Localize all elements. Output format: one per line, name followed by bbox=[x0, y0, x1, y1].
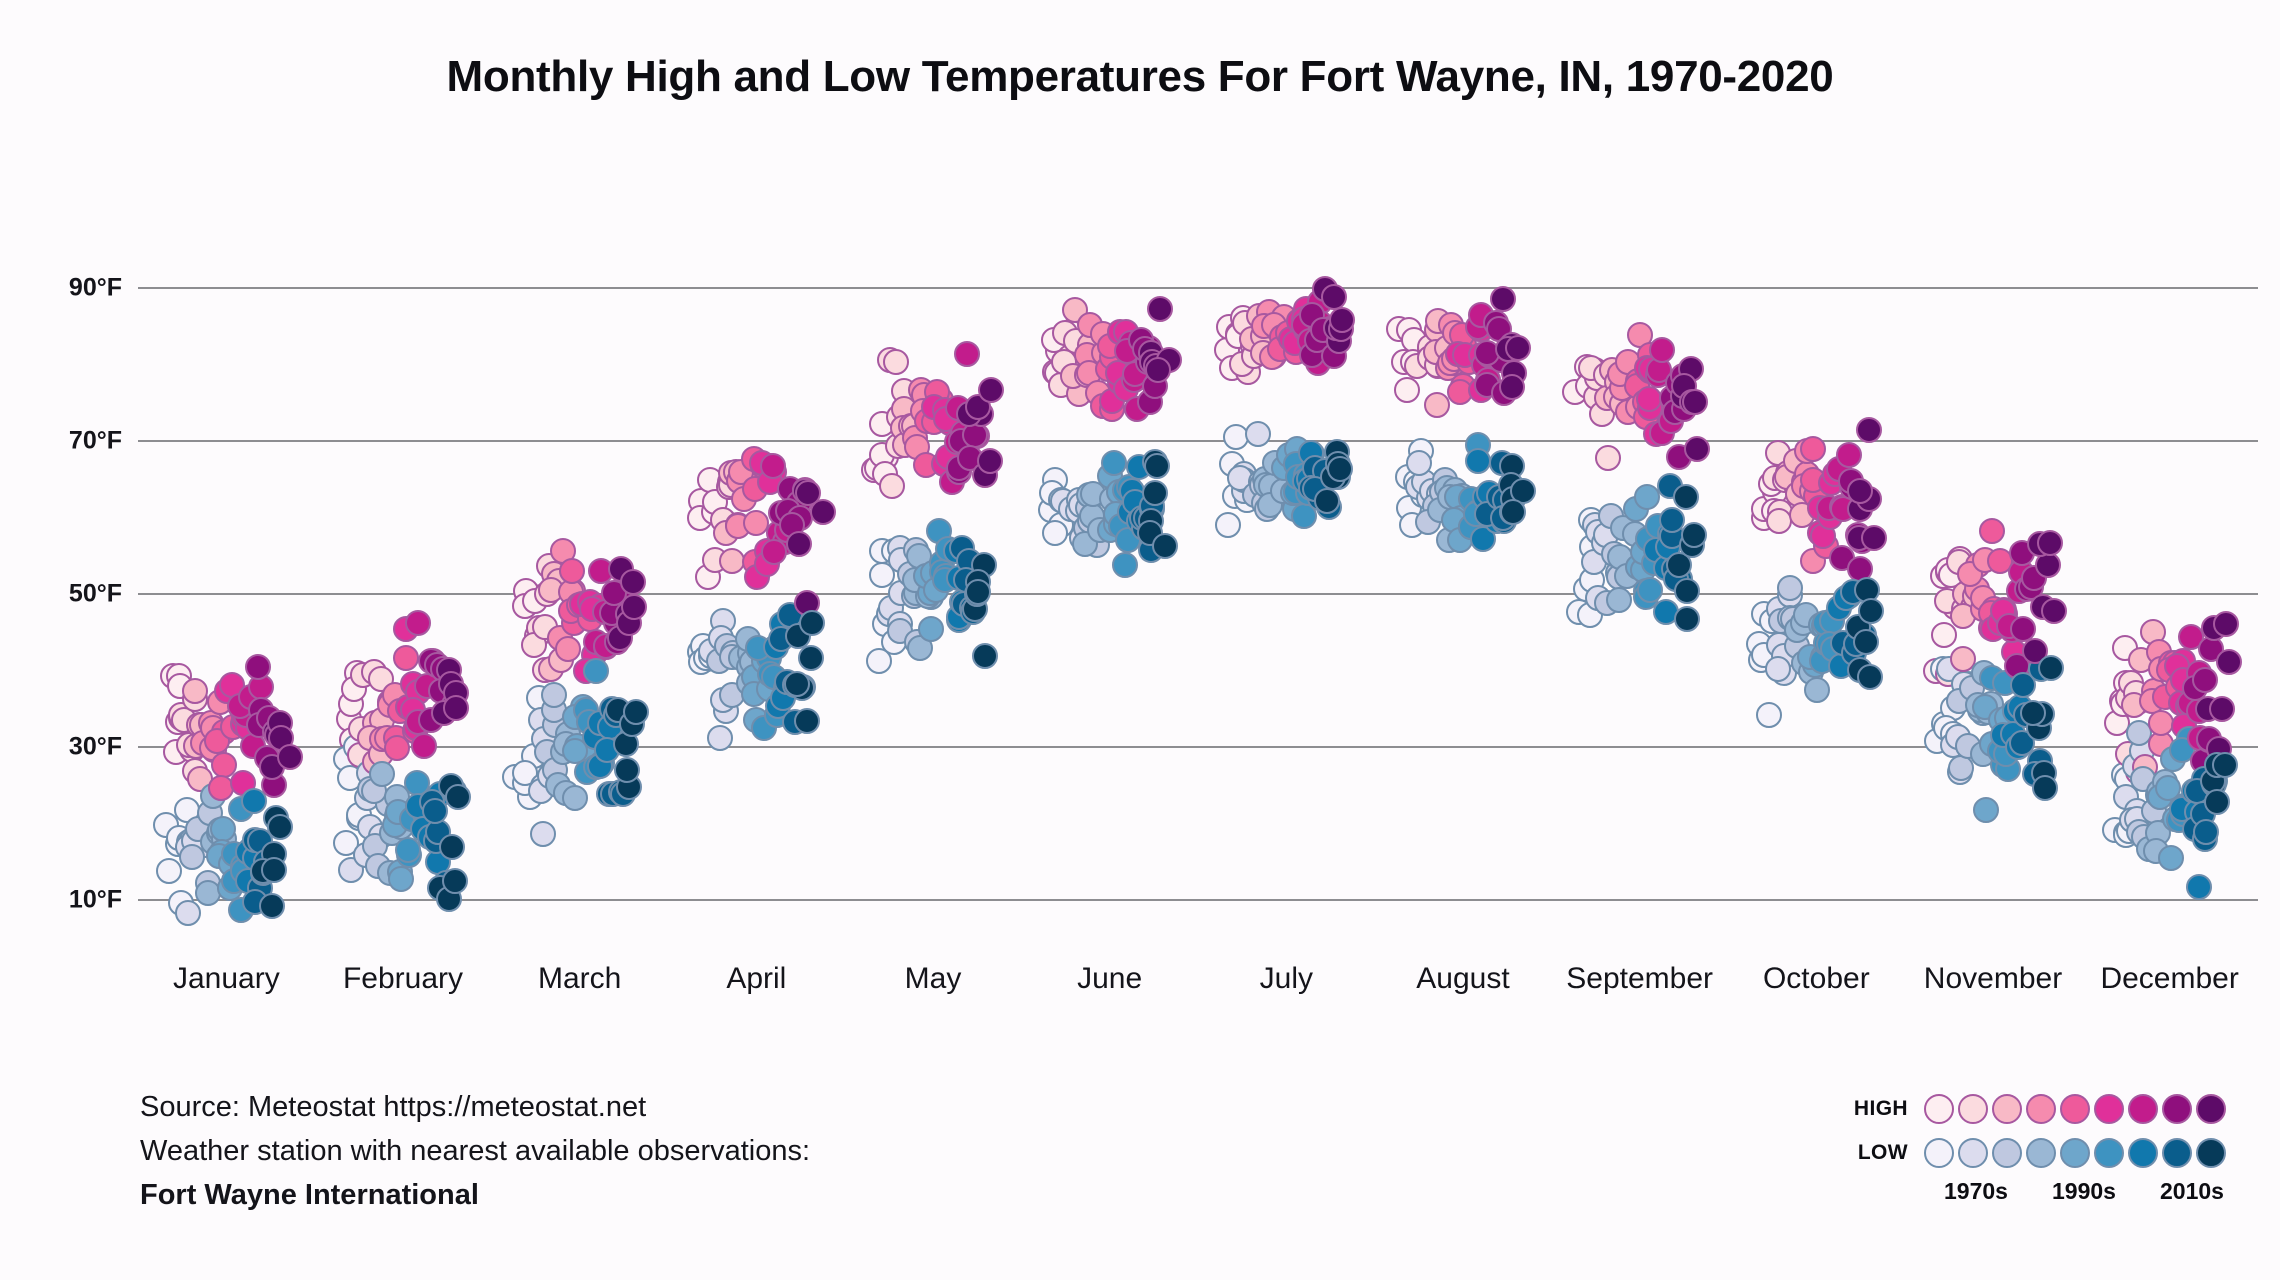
scatter-point bbox=[1156, 347, 1182, 373]
legend-swatch bbox=[2060, 1138, 2090, 1168]
scatter-point bbox=[1951, 671, 1977, 697]
scatter-point bbox=[1594, 385, 1620, 411]
scatter-point bbox=[512, 770, 538, 796]
scatter-point bbox=[187, 766, 213, 792]
scatter-point bbox=[1072, 531, 1098, 557]
scatter-point bbox=[782, 672, 808, 698]
scatter-point bbox=[1637, 342, 1663, 368]
scatter-point bbox=[751, 715, 777, 741]
scatter-point bbox=[688, 649, 714, 675]
scatter-point bbox=[445, 784, 471, 810]
scatter-point bbox=[928, 387, 954, 413]
scatter-point bbox=[1298, 475, 1324, 501]
scatter-point bbox=[1593, 522, 1619, 548]
scatter-point bbox=[2145, 782, 2171, 808]
scatter-point bbox=[1142, 449, 1168, 475]
scatter-point bbox=[1299, 302, 1325, 328]
scatter-point bbox=[436, 657, 462, 683]
scatter-point bbox=[706, 648, 732, 674]
scatter-point bbox=[2148, 656, 2174, 682]
scatter-point bbox=[1075, 495, 1101, 521]
scatter-point bbox=[1241, 343, 1267, 369]
scatter-point bbox=[594, 737, 620, 763]
scatter-point bbox=[2004, 653, 2030, 679]
scatter-point bbox=[1231, 467, 1257, 493]
scatter-point bbox=[1992, 601, 2018, 627]
scatter-point bbox=[1582, 512, 1608, 538]
scatter-point bbox=[1138, 508, 1164, 534]
scatter-point bbox=[913, 563, 939, 589]
scatter-point bbox=[441, 692, 467, 718]
scatter-point bbox=[583, 754, 609, 780]
scatter-point bbox=[1103, 501, 1129, 527]
scatter-point bbox=[1804, 677, 1830, 703]
scatter-point bbox=[1981, 596, 2007, 622]
scatter-point bbox=[577, 744, 603, 770]
scatter-point bbox=[238, 684, 264, 710]
scatter-point bbox=[1784, 633, 1810, 659]
scatter-point bbox=[1062, 297, 1088, 323]
scatter-point bbox=[1950, 603, 1976, 629]
scatter-point bbox=[971, 552, 997, 578]
scatter-point bbox=[1659, 507, 1685, 533]
scatter-point bbox=[1665, 370, 1691, 396]
scatter-point bbox=[1856, 417, 1882, 443]
scatter-point bbox=[419, 789, 445, 815]
scatter-point bbox=[583, 658, 609, 684]
scatter-point bbox=[2128, 647, 2154, 673]
scatter-point bbox=[1847, 556, 1873, 582]
scatter-point bbox=[1826, 456, 1852, 482]
scatter-point bbox=[2165, 674, 2191, 700]
scatter-point bbox=[1080, 481, 1106, 507]
scatter-point bbox=[902, 567, 928, 593]
scatter-point bbox=[1607, 544, 1633, 570]
scatter-point bbox=[405, 709, 431, 735]
scatter-point bbox=[787, 505, 813, 531]
scatter-point bbox=[931, 451, 957, 477]
x-tick-label: August bbox=[1416, 962, 1509, 996]
scatter-point bbox=[1762, 465, 1788, 491]
scatter-point bbox=[521, 632, 547, 658]
scatter-point bbox=[918, 584, 944, 610]
scatter-point bbox=[1491, 380, 1517, 406]
scatter-point bbox=[1305, 350, 1331, 376]
scatter-point bbox=[1762, 468, 1788, 494]
scatter-point bbox=[946, 607, 972, 633]
scatter-point bbox=[718, 460, 744, 486]
scatter-point bbox=[616, 774, 642, 800]
scatter-point bbox=[1069, 525, 1095, 551]
scatter-point bbox=[2198, 636, 2224, 662]
scatter-point bbox=[1630, 539, 1656, 565]
scatter-point bbox=[610, 583, 636, 609]
scatter-point bbox=[1283, 451, 1309, 477]
scatter-point bbox=[891, 378, 917, 404]
scatter-point bbox=[532, 614, 558, 640]
scatter-point bbox=[972, 643, 998, 669]
scatter-point bbox=[739, 649, 765, 675]
scatter-point bbox=[1126, 508, 1152, 534]
scatter-point bbox=[227, 693, 253, 719]
scatter-point bbox=[1501, 360, 1527, 386]
scatter-point bbox=[1468, 302, 1494, 328]
x-tick-label: February bbox=[343, 962, 463, 996]
scatter-point bbox=[198, 710, 224, 736]
scatter-point bbox=[1794, 461, 1820, 487]
scatter-point bbox=[368, 823, 394, 849]
scatter-point bbox=[1499, 453, 1525, 479]
scatter-point bbox=[1946, 549, 1972, 575]
scatter-point bbox=[733, 459, 759, 485]
scatter-point bbox=[387, 698, 413, 724]
scatter-point bbox=[195, 880, 221, 906]
scatter-point bbox=[1249, 472, 1275, 498]
scatter-point bbox=[1980, 616, 2006, 642]
scatter-point bbox=[794, 708, 820, 734]
scatter-point bbox=[186, 712, 212, 738]
scatter-point bbox=[1633, 584, 1659, 610]
scatter-point bbox=[512, 593, 538, 619]
scatter-point bbox=[1077, 508, 1103, 534]
scatter-point bbox=[1965, 692, 1991, 718]
scatter-point bbox=[965, 394, 991, 420]
scatter-point bbox=[1411, 469, 1437, 495]
scatter-point bbox=[363, 719, 389, 745]
scatter-point bbox=[697, 467, 723, 493]
scatter-point bbox=[1857, 664, 1883, 690]
scatter-point bbox=[398, 800, 424, 826]
scatter-point bbox=[1425, 353, 1451, 379]
scatter-point bbox=[1777, 582, 1803, 608]
scatter-point bbox=[1829, 545, 1855, 571]
scatter-point bbox=[756, 676, 782, 702]
scatter-point bbox=[1623, 496, 1649, 522]
scatter-point bbox=[1270, 478, 1296, 504]
scatter-point bbox=[1295, 480, 1321, 506]
scatter-point bbox=[608, 779, 634, 805]
legend-high-label: HIGH bbox=[1832, 1097, 1924, 1121]
scatter-point bbox=[1923, 658, 1949, 684]
scatter-point bbox=[526, 685, 552, 711]
scatter-point bbox=[1434, 335, 1460, 361]
scatter-point bbox=[2032, 775, 2058, 801]
scatter-point bbox=[553, 731, 579, 757]
scatter-point bbox=[605, 697, 631, 723]
scatter-point bbox=[521, 584, 547, 610]
scatter-point bbox=[1121, 367, 1147, 393]
legend-swatch bbox=[1924, 1138, 1954, 1168]
legend-swatch bbox=[2128, 1094, 2158, 1124]
scatter-point bbox=[253, 849, 279, 875]
scatter-point bbox=[1252, 466, 1278, 492]
scatter-point bbox=[1813, 630, 1839, 656]
scatter-point bbox=[913, 382, 939, 408]
scatter-point bbox=[1625, 554, 1651, 580]
scatter-point bbox=[235, 839, 261, 865]
scatter-point bbox=[1996, 613, 2022, 639]
scatter-point bbox=[153, 812, 179, 838]
scatter-point bbox=[761, 664, 787, 690]
scatter-point bbox=[1474, 340, 1500, 366]
scatter-point bbox=[1955, 671, 1981, 697]
scatter-point bbox=[562, 785, 588, 811]
scatter-point bbox=[1610, 515, 1636, 541]
scatter-point bbox=[1942, 594, 1968, 620]
scatter-point bbox=[1490, 286, 1516, 312]
scatter-point bbox=[1261, 312, 1287, 338]
scatter-point bbox=[954, 341, 980, 367]
scatter-point bbox=[1435, 355, 1461, 381]
scatter-point bbox=[1441, 507, 1467, 533]
chart-legend: HIGH LOW 1970s1990s2010s bbox=[1832, 1092, 2252, 1232]
footer-station-name: Fort Wayne International bbox=[140, 1173, 810, 1217]
scatter-point bbox=[182, 678, 208, 704]
scatter-point bbox=[2148, 731, 2174, 757]
scatter-point bbox=[1566, 599, 1592, 625]
y-tick-label: 90°F bbox=[69, 274, 122, 303]
scatter-point bbox=[1593, 362, 1619, 388]
scatter-point bbox=[1756, 702, 1782, 728]
scatter-point bbox=[1987, 548, 2013, 574]
scatter-point bbox=[596, 781, 622, 807]
scatter-point bbox=[230, 858, 256, 884]
scatter-point bbox=[861, 457, 887, 483]
scatter-point bbox=[1847, 496, 1873, 522]
scatter-point bbox=[1450, 513, 1476, 539]
scatter-point bbox=[1851, 622, 1877, 648]
scatter-point bbox=[1060, 363, 1086, 389]
footer-note: Source: Meteostat https://meteostat.net … bbox=[140, 1085, 810, 1217]
scatter-point bbox=[968, 401, 994, 427]
scatter-point bbox=[1079, 503, 1105, 529]
scatter-point bbox=[769, 611, 795, 637]
scatter-point bbox=[2132, 754, 2158, 780]
scatter-point bbox=[758, 453, 784, 479]
scatter-point bbox=[1800, 467, 1826, 493]
scatter-point bbox=[1674, 606, 1700, 632]
scatter-point bbox=[207, 689, 233, 715]
scatter-point bbox=[1105, 360, 1131, 386]
scatter-point bbox=[702, 489, 728, 515]
scatter-point bbox=[1766, 596, 1792, 622]
scatter-point bbox=[1135, 349, 1161, 375]
scatter-point bbox=[1809, 648, 1835, 674]
scatter-point bbox=[200, 715, 226, 741]
scatter-point bbox=[2026, 715, 2052, 741]
scatter-point bbox=[1458, 514, 1484, 540]
scatter-point bbox=[1603, 384, 1629, 410]
scatter-point bbox=[405, 793, 431, 819]
scatter-point bbox=[774, 517, 800, 543]
scatter-point bbox=[904, 434, 930, 460]
scatter-point bbox=[1256, 299, 1282, 325]
scatter-point bbox=[1302, 455, 1328, 481]
scatter-point bbox=[2118, 670, 2144, 696]
scatter-point bbox=[614, 757, 640, 783]
scatter-point bbox=[1783, 448, 1809, 474]
scatter-point bbox=[918, 616, 944, 642]
scatter-point bbox=[1625, 394, 1651, 420]
scatter-point bbox=[1119, 478, 1145, 504]
scatter-point bbox=[1323, 315, 1349, 341]
scatter-point bbox=[267, 710, 293, 736]
scatter-point bbox=[1992, 670, 2018, 696]
scatter-point bbox=[1437, 484, 1463, 510]
scatter-point bbox=[1622, 521, 1648, 547]
scatter-point bbox=[761, 459, 787, 485]
scatter-point bbox=[1286, 308, 1312, 334]
scatter-point bbox=[1317, 316, 1343, 342]
scatter-point bbox=[1858, 598, 1884, 624]
scatter-point bbox=[1971, 660, 1997, 686]
scatter-point bbox=[1614, 563, 1640, 589]
scatter-point bbox=[2000, 721, 2026, 747]
scatter-point bbox=[901, 413, 927, 439]
scatter-point bbox=[248, 674, 274, 700]
scatter-point bbox=[399, 806, 425, 832]
scatter-point bbox=[1225, 321, 1251, 347]
scatter-point bbox=[241, 788, 267, 814]
scatter-point bbox=[428, 678, 454, 704]
scatter-point bbox=[1970, 700, 1996, 726]
scatter-point bbox=[1573, 576, 1599, 602]
scatter-point bbox=[2195, 696, 2221, 722]
scatter-point bbox=[1810, 644, 1836, 670]
scatter-point bbox=[2009, 540, 2035, 566]
scatter-point bbox=[425, 849, 451, 875]
scatter-point bbox=[550, 538, 576, 564]
scatter-point bbox=[569, 591, 595, 617]
scatter-point bbox=[1836, 632, 1862, 658]
scatter-point bbox=[2152, 684, 2178, 710]
scatter-point bbox=[757, 469, 783, 495]
x-tick-label: September bbox=[1566, 962, 1713, 996]
scatter-point bbox=[200, 783, 226, 809]
scatter-point bbox=[1076, 360, 1102, 386]
scatter-point bbox=[230, 711, 256, 737]
scatter-point bbox=[1681, 522, 1707, 548]
scatter-point bbox=[1819, 608, 1845, 634]
scatter-point bbox=[210, 816, 236, 842]
scatter-point bbox=[1861, 525, 1887, 551]
x-tick-label: June bbox=[1077, 962, 1142, 996]
scatter-point bbox=[1808, 612, 1834, 638]
scatter-point bbox=[1048, 372, 1074, 398]
scatter-point bbox=[1836, 583, 1862, 609]
scatter-point bbox=[1853, 629, 1879, 655]
scatter-point bbox=[1112, 477, 1138, 503]
scatter-point bbox=[377, 689, 403, 715]
scatter-point bbox=[555, 721, 581, 747]
scatter-point bbox=[160, 663, 186, 689]
scatter-point bbox=[1097, 517, 1123, 543]
scatter-point bbox=[1128, 327, 1154, 353]
scatter-point bbox=[1780, 606, 1806, 632]
scatter-point bbox=[597, 714, 623, 740]
scatter-point bbox=[1830, 630, 1856, 656]
scatter-points-layer bbox=[138, 0, 2258, 1100]
scatter-point bbox=[616, 610, 642, 636]
scatter-point bbox=[1133, 505, 1159, 531]
scatter-point bbox=[1606, 564, 1632, 590]
scatter-point bbox=[354, 785, 380, 811]
scatter-point bbox=[763, 634, 789, 660]
scatter-point bbox=[1607, 361, 1633, 387]
scatter-point bbox=[1775, 460, 1801, 486]
scatter-point bbox=[1257, 492, 1283, 518]
scatter-point bbox=[768, 500, 794, 526]
scatter-point bbox=[1465, 499, 1491, 525]
scatter-point bbox=[2146, 779, 2172, 805]
scatter-point bbox=[1280, 480, 1306, 506]
scatter-point bbox=[718, 472, 744, 498]
scatter-point bbox=[728, 459, 754, 485]
scatter-point bbox=[1812, 610, 1838, 636]
scatter-point bbox=[688, 488, 714, 514]
scatter-point bbox=[1259, 313, 1285, 339]
scatter-point bbox=[2168, 690, 2194, 716]
scatter-point bbox=[768, 626, 794, 652]
scatter-point bbox=[1653, 555, 1679, 581]
scatter-point bbox=[1499, 374, 1525, 400]
scatter-point bbox=[2196, 727, 2222, 753]
scatter-point bbox=[2116, 818, 2142, 844]
scatter-point bbox=[538, 577, 564, 603]
scatter-point bbox=[760, 453, 786, 479]
scatter-point bbox=[1246, 303, 1272, 329]
scatter-point bbox=[1783, 472, 1809, 498]
scatter-point bbox=[1269, 324, 1295, 350]
scatter-point bbox=[532, 657, 558, 683]
scatter-point bbox=[528, 778, 554, 804]
scatter-point bbox=[1627, 322, 1653, 348]
scatter-point bbox=[2136, 836, 2162, 862]
scatter-point bbox=[245, 654, 271, 680]
scatter-point bbox=[1058, 496, 1084, 522]
scatter-point bbox=[2201, 771, 2227, 797]
scatter-point bbox=[904, 629, 930, 655]
scatter-point bbox=[1972, 547, 1998, 573]
scatter-point bbox=[1978, 615, 2004, 641]
legend-decade-label: 2010s bbox=[2160, 1178, 2224, 1205]
scatter-point bbox=[946, 459, 972, 485]
scatter-point bbox=[1836, 442, 1862, 468]
scatter-point bbox=[1450, 373, 1476, 399]
scatter-point bbox=[1235, 359, 1261, 385]
scatter-point bbox=[2170, 667, 2196, 693]
scatter-point bbox=[1291, 312, 1317, 338]
scatter-point bbox=[1484, 508, 1510, 534]
scatter-point bbox=[1045, 338, 1071, 364]
scatter-point bbox=[2145, 820, 2171, 846]
scatter-point bbox=[2009, 730, 2035, 756]
scatter-point bbox=[1267, 336, 1293, 362]
scatter-point bbox=[1988, 707, 2014, 733]
scatter-point bbox=[368, 741, 394, 767]
scatter-point bbox=[2141, 798, 2167, 824]
scatter-point bbox=[1152, 533, 1178, 559]
scatter-point bbox=[1663, 566, 1689, 592]
scatter-point bbox=[1299, 441, 1325, 467]
scatter-point bbox=[914, 408, 940, 434]
scatter-point bbox=[1307, 310, 1333, 336]
scatter-point bbox=[879, 473, 905, 499]
scatter-point bbox=[881, 538, 907, 564]
scatter-point bbox=[261, 841, 287, 867]
scatter-point bbox=[1076, 482, 1102, 508]
scatter-point bbox=[201, 737, 227, 763]
